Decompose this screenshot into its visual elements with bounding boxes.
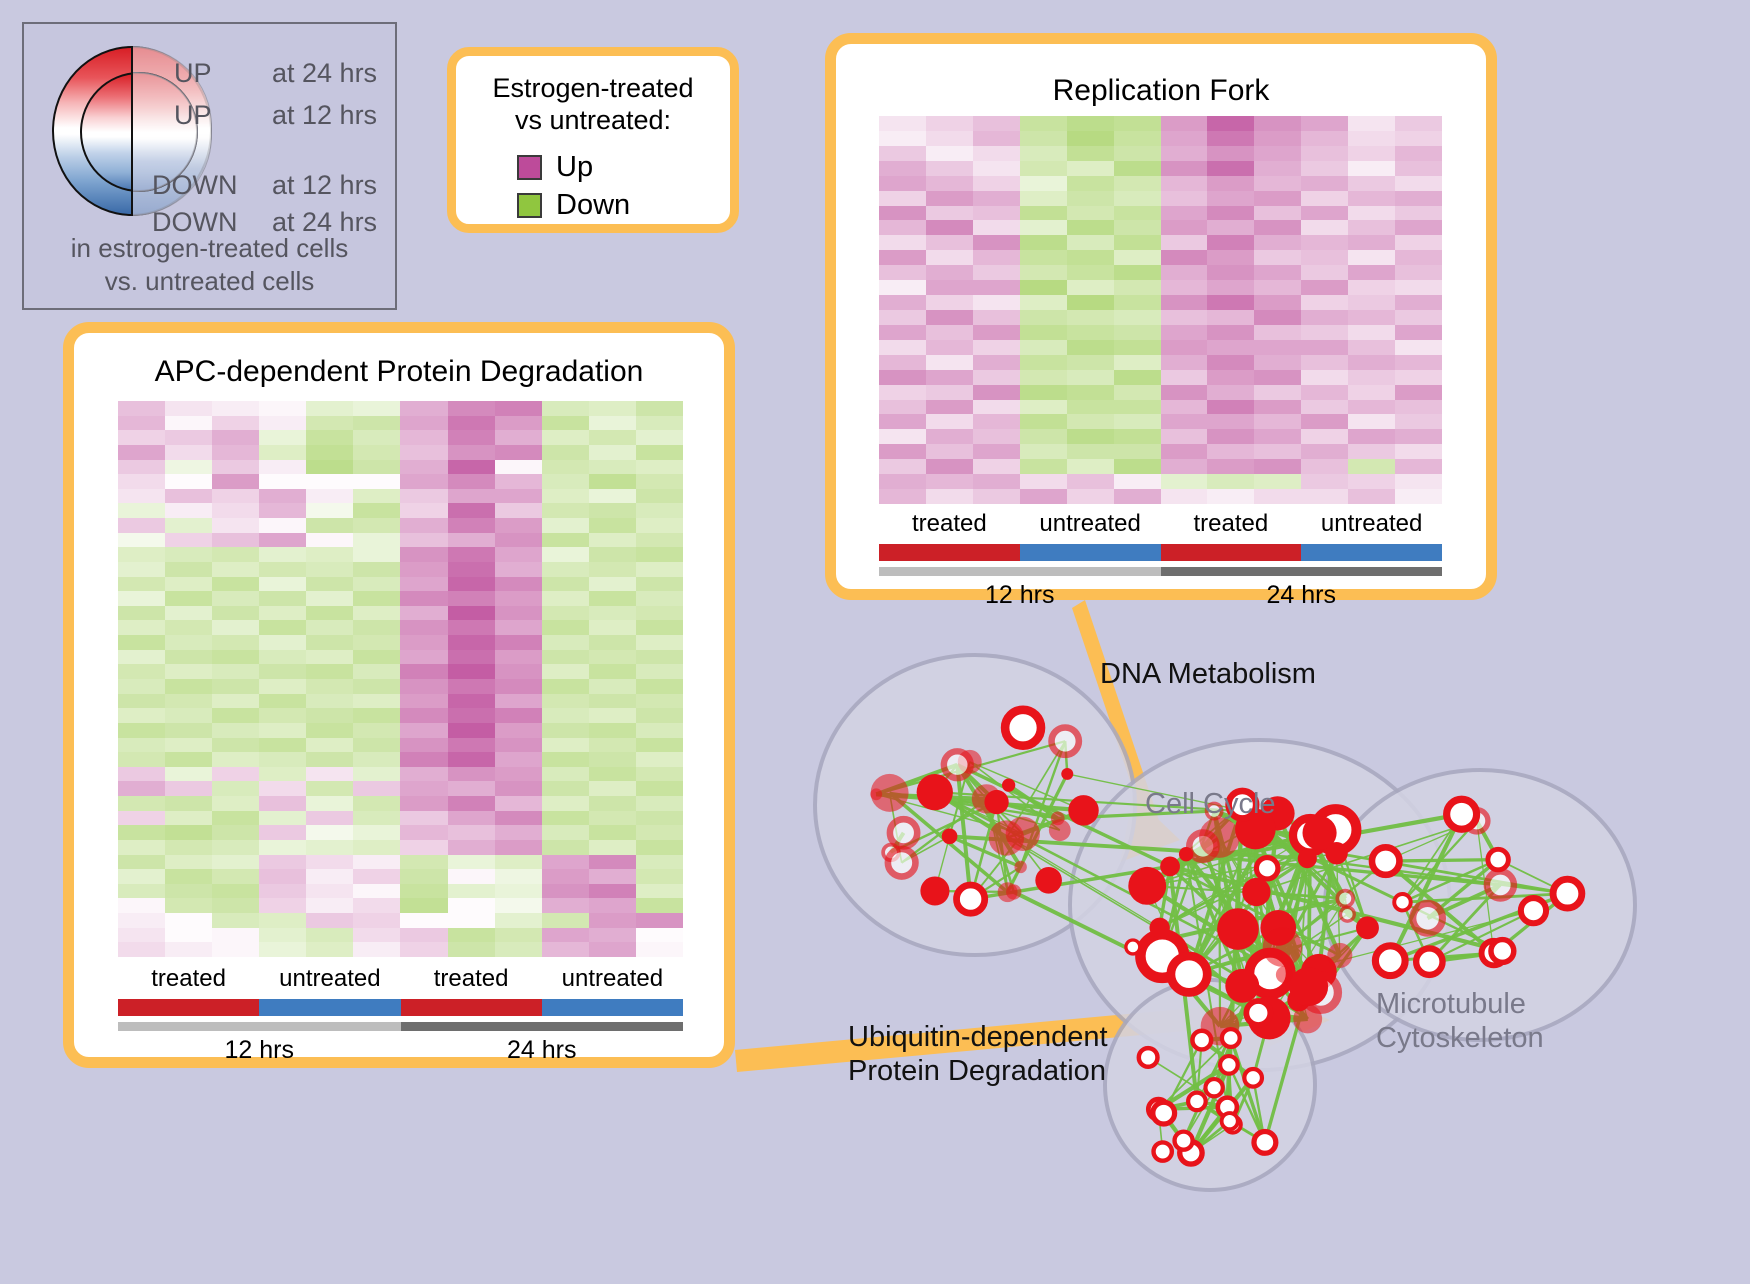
heatmap-cell [1161, 265, 1208, 280]
heatmap-cell [118, 869, 165, 884]
heatmap-cell [400, 620, 447, 635]
network-node-ring [1337, 891, 1353, 907]
heatmap-cell [495, 606, 542, 621]
time-label-1: 24 hrs [1161, 581, 1443, 610]
heatmap-cell [1395, 355, 1442, 370]
heatmap-cell [1301, 131, 1348, 146]
heatmap-cell [353, 533, 400, 548]
group-label-3: untreated [1301, 510, 1442, 538]
heatmap-cell [1254, 355, 1301, 370]
heatmap-cell [973, 206, 1020, 221]
heatmap-cell [542, 591, 589, 606]
heatmap-cell [879, 116, 926, 131]
network-node-ring [1051, 727, 1078, 754]
heatmap-cell [1114, 310, 1161, 325]
network-node-ring [1416, 948, 1442, 974]
heatmap-cell [259, 518, 306, 533]
network-node [989, 820, 1024, 855]
heatmap-cell [1254, 146, 1301, 161]
heatmap-cell [353, 855, 400, 870]
colorwheel-legend-box: UP at 24 hrs UP at 12 hrs DOWN at 12 hrs… [22, 22, 397, 310]
heatmap-cell [1067, 146, 1114, 161]
heatmap-cell [1067, 429, 1114, 444]
heatmap-cell [1161, 295, 1208, 310]
heatmap-cell [259, 723, 306, 738]
heatmap-cell [495, 913, 542, 928]
apc-heatmap [118, 401, 683, 957]
heatmap-cell [448, 840, 495, 855]
network-node [1199, 817, 1240, 858]
heatmap-cell [448, 664, 495, 679]
heatmap-cell [1348, 489, 1395, 504]
heatmap-cell [212, 650, 259, 665]
heatmap-cell [589, 416, 636, 431]
network-node [1002, 778, 1015, 791]
heatmap-cell [1020, 131, 1067, 146]
heatmap-cell [589, 562, 636, 577]
heatmap-cell [926, 176, 973, 191]
treatment-bar-segment-0 [879, 544, 1020, 561]
heatmap-cell [1161, 385, 1208, 400]
heatmap-cell [400, 591, 447, 606]
heatmap-cell [400, 942, 447, 957]
heatmap-cell [400, 416, 447, 431]
cluster-label-ubiquitin-degradation: Ubiquitin-dependent Protein Degradation [848, 1020, 1108, 1088]
heatmap-cell [1348, 250, 1395, 265]
network-node-ring [957, 885, 985, 913]
heatmap-cell [879, 400, 926, 415]
heatmap-cell [259, 767, 306, 782]
heatmap-cell [1020, 355, 1067, 370]
heatmap-cell [353, 767, 400, 782]
heatmap-cell [400, 635, 447, 650]
heatmap-cell [589, 460, 636, 475]
heatmap-cell [636, 430, 683, 445]
legend-swatch-down [517, 193, 542, 218]
heatmap-cell [212, 796, 259, 811]
group-label-1: untreated [1020, 510, 1161, 538]
heatmap-cell [1067, 295, 1114, 310]
network-node-ring [1126, 940, 1140, 954]
heatmap-cell [448, 445, 495, 460]
heatmap-cell [1161, 370, 1208, 385]
heatmap-cell [495, 738, 542, 753]
heatmap-cell [1395, 116, 1442, 131]
heatmap-cell [495, 928, 542, 943]
heatmap-cell [165, 767, 212, 782]
heatmap-cell [1114, 131, 1161, 146]
heatmap-cell [879, 310, 926, 325]
heatmap-cell [973, 429, 1020, 444]
heatmap-cell [495, 562, 542, 577]
heatmap-cell [1161, 176, 1208, 191]
heatmap-cell [636, 533, 683, 548]
heatmap-cell [400, 723, 447, 738]
heatmap-cell [973, 235, 1020, 250]
heatmap-cell [926, 161, 973, 176]
heatmap-cell [1395, 310, 1442, 325]
heatmap-cell [1114, 385, 1161, 400]
heatmap-cell [306, 533, 353, 548]
heatmap-cell [165, 489, 212, 504]
heatmap-cell [589, 840, 636, 855]
heatmap-cell [1161, 280, 1208, 295]
heatmap-cell [259, 869, 306, 884]
heatmap-cell [1020, 220, 1067, 235]
heatmap-cell [973, 414, 1020, 429]
heatmap-cell [973, 459, 1020, 474]
network-node-ring [1375, 946, 1405, 976]
heatmap-cell [495, 664, 542, 679]
network-node [984, 790, 1008, 814]
heatmap-cell [542, 942, 589, 957]
heatmap-cell [259, 840, 306, 855]
heatmap-cell [1067, 459, 1114, 474]
network-graph [790, 615, 1750, 1279]
heatmap-cell [1161, 414, 1208, 429]
heatmap-cell [1254, 220, 1301, 235]
heatmap-cell [400, 533, 447, 548]
heatmap-cell [400, 738, 447, 753]
heatmap-cell [448, 606, 495, 621]
heatmap-cell [353, 664, 400, 679]
heatmap-cell [589, 825, 636, 840]
heatmap-cell [1161, 474, 1208, 489]
heatmap-cell [589, 430, 636, 445]
heatmap-cell [636, 460, 683, 475]
heatmap-cell [353, 620, 400, 635]
heatmap-cell [542, 796, 589, 811]
heatmap-cell [973, 355, 1020, 370]
heatmap-cell [306, 708, 353, 723]
heatmap-cell [926, 325, 973, 340]
replication-fork-time-bar [879, 567, 1442, 576]
heatmap-cell [400, 840, 447, 855]
heatmap-cell [1067, 414, 1114, 429]
heatmap-cell [1254, 489, 1301, 504]
heatmap-cell [1207, 116, 1254, 131]
heatmap-cell [1020, 370, 1067, 385]
heatmap-cell [1067, 161, 1114, 176]
heatmap-cell [1207, 459, 1254, 474]
heatmap-cell [353, 547, 400, 562]
heatmap-cell [259, 650, 306, 665]
heatmap-cell [448, 679, 495, 694]
heatmap-cell [495, 533, 542, 548]
network-node [1068, 795, 1098, 825]
heatmap-cell [259, 796, 306, 811]
heatmap-cell [1395, 325, 1442, 340]
wheel-time-up-24: at 24 hrs [272, 60, 377, 87]
heatmap-cell [1020, 295, 1067, 310]
heatmap-cell [1161, 429, 1208, 444]
time-label-1: 24 hrs [401, 1036, 684, 1065]
heatmap-cell [973, 131, 1020, 146]
heatmap-cell [926, 429, 973, 444]
heatmap-cell [589, 898, 636, 913]
heatmap-cell [400, 606, 447, 621]
heatmap-cell [212, 694, 259, 709]
replication-fork-title: Replication Fork [836, 74, 1486, 108]
heatmap-cell [259, 884, 306, 899]
cluster-label-mt-line1: Microtubule [1376, 987, 1544, 1021]
heatmap-cell [1161, 310, 1208, 325]
heatmap-cell [212, 416, 259, 431]
heatmap-cell [542, 518, 589, 533]
heatmap-cell [1207, 146, 1254, 161]
treatment-bar-segment-1 [259, 999, 400, 1016]
heatmap-cell [879, 235, 926, 250]
heatmap-cell [1301, 474, 1348, 489]
heatmap-cell [1020, 385, 1067, 400]
heatmap-cell [212, 664, 259, 679]
heatmap-cell [306, 635, 353, 650]
heatmap-cell [1395, 235, 1442, 250]
treatment-bar-segment-2 [1161, 544, 1302, 561]
heatmap-cell [1348, 295, 1395, 310]
heatmap-cell [400, 562, 447, 577]
heatmap-cell [542, 474, 589, 489]
heatmap-cell [879, 429, 926, 444]
heatmap-cell [306, 752, 353, 767]
heatmap-cell [926, 116, 973, 131]
heatmap-cell [118, 635, 165, 650]
heatmap-cell [1254, 474, 1301, 489]
heatmap-cell [926, 295, 973, 310]
heatmap-cell [1395, 250, 1442, 265]
heatmap-cell [1114, 355, 1161, 370]
network-node-ring [1205, 1079, 1222, 1096]
heatmap-cell [1348, 191, 1395, 206]
heatmap-cell [165, 694, 212, 709]
heatmap-cell [1207, 489, 1254, 504]
heatmap-cell [1207, 370, 1254, 385]
heatmap-cell [636, 694, 683, 709]
heatmap-cell [879, 444, 926, 459]
heatmap-cell [212, 679, 259, 694]
heatmap-cell [1395, 370, 1442, 385]
heatmap-cell [636, 635, 683, 650]
heatmap-cell [118, 591, 165, 606]
heatmap-cell [1207, 131, 1254, 146]
heatmap-cell [1254, 295, 1301, 310]
heatmap-cell [306, 869, 353, 884]
heatmap-cell [165, 474, 212, 489]
heatmap-cell [1207, 385, 1254, 400]
heatmap-cell [165, 664, 212, 679]
heatmap-cell [879, 176, 926, 191]
heatmap-cell [1207, 235, 1254, 250]
heatmap-cell [400, 767, 447, 782]
heatmap-cell [212, 723, 259, 738]
group-label-0: treated [879, 510, 1020, 538]
heatmap-cell [259, 430, 306, 445]
heatmap-cell [589, 679, 636, 694]
heatmap-cell [495, 825, 542, 840]
heatmap-cell [636, 577, 683, 592]
heatmap-cell [1114, 340, 1161, 355]
heatmap-cell [306, 855, 353, 870]
heatmap-cell [636, 591, 683, 606]
heatmap-cell [212, 474, 259, 489]
heatmap-cell [400, 679, 447, 694]
heatmap-cell [165, 840, 212, 855]
heatmap-cell [495, 620, 542, 635]
heatmap-cell [1161, 191, 1208, 206]
heatmap-cell [1020, 235, 1067, 250]
heatmap-cell [212, 635, 259, 650]
heatmap-cell [589, 445, 636, 460]
heatmap-cell [212, 840, 259, 855]
group-label-3: untreated [542, 965, 683, 993]
heatmap-cell [1114, 161, 1161, 176]
heatmap-cell [1020, 206, 1067, 221]
network-node-ring [1005, 710, 1041, 746]
heatmap-cell [165, 635, 212, 650]
heatmap-cell [1301, 355, 1348, 370]
apc-treatment-bar [118, 999, 683, 1016]
heatmap-cell [973, 310, 1020, 325]
heatmap-cell [589, 577, 636, 592]
heatmap-cell [589, 796, 636, 811]
heatmap-cell [973, 400, 1020, 415]
heatmap-cell [1020, 489, 1067, 504]
heatmap-cell [1114, 429, 1161, 444]
network-node-ring [1244, 1069, 1262, 1087]
network-node-ring [1372, 847, 1400, 875]
heatmap-cell [1161, 400, 1208, 415]
heatmap-cell [400, 708, 447, 723]
heatmap-cell [879, 206, 926, 221]
heatmap-cell [542, 752, 589, 767]
heatmap-cell [1348, 220, 1395, 235]
network-node-ring [1491, 940, 1514, 963]
heatmap-cell [1114, 414, 1161, 429]
heatmap-cell [448, 781, 495, 796]
heatmap-cell [259, 474, 306, 489]
heatmap-cell [542, 708, 589, 723]
network-node [1035, 867, 1062, 894]
heatmap-cell [542, 723, 589, 738]
heatmap-cell [306, 620, 353, 635]
heatmap-cell [306, 401, 353, 416]
heatmap-cell [1207, 474, 1254, 489]
heatmap-cell [636, 855, 683, 870]
heatmap-cell [306, 884, 353, 899]
heatmap-cell [259, 591, 306, 606]
heatmap-cell [926, 250, 973, 265]
heatmap-cell [1114, 459, 1161, 474]
heatmap-cell [1020, 280, 1067, 295]
heatmap-cell [165, 416, 212, 431]
heatmap-cell [1161, 116, 1208, 131]
heatmap-cell [495, 635, 542, 650]
heatmap-cell [118, 796, 165, 811]
heatmap-cell [495, 752, 542, 767]
heatmap-cell [1114, 220, 1161, 235]
heatmap-cell [1301, 176, 1348, 191]
heatmap-cell [448, 635, 495, 650]
heatmap-cell [1395, 206, 1442, 221]
wheel-label-up-24: UP [174, 60, 212, 87]
heatmap-cell [879, 295, 926, 310]
heatmap-cell [1114, 280, 1161, 295]
heatmap-cell [212, 811, 259, 826]
heatmap-cell [165, 401, 212, 416]
heatmap-cell [259, 694, 306, 709]
heatmap-cell [1395, 489, 1442, 504]
legend-title-line1: Estrogen-treated [456, 72, 730, 104]
network-node [871, 774, 909, 812]
heatmap-cell [636, 898, 683, 913]
heatmap-cell [118, 518, 165, 533]
heatmap-cell [589, 533, 636, 548]
heatmap-cell [400, 855, 447, 870]
network-node-ring [1394, 894, 1410, 910]
heatmap-cell [306, 430, 353, 445]
network-node-ring [1521, 898, 1546, 923]
network-node-ring [1222, 1029, 1240, 1047]
heatmap-cell [973, 191, 1020, 206]
heatmap-cell [1020, 459, 1067, 474]
heatmap-cell [400, 898, 447, 913]
heatmap-cell [259, 664, 306, 679]
network-node-ring [1340, 907, 1354, 921]
heatmap-cell [1254, 310, 1301, 325]
heatmap-cell [400, 913, 447, 928]
cluster-label-ub-line2: Protein Degradation [848, 1054, 1108, 1088]
heatmap-cell [1207, 280, 1254, 295]
cluster-label-dna-metabolism: DNA Metabolism [1100, 657, 1316, 691]
network-node [917, 774, 953, 810]
heatmap-cell [1301, 414, 1348, 429]
heatmap-cell [1161, 206, 1208, 221]
heatmap-cell [1254, 385, 1301, 400]
network-node-ring [1220, 1056, 1238, 1074]
heatmap-cell [1254, 265, 1301, 280]
heatmap-cell [400, 664, 447, 679]
heatmap-cell [1114, 444, 1161, 459]
heatmap-cell [1254, 370, 1301, 385]
heatmap-cell [589, 884, 636, 899]
heatmap-cell [495, 503, 542, 518]
heatmap-cell [118, 620, 165, 635]
heatmap-cell [1067, 250, 1114, 265]
heatmap-cell [400, 928, 447, 943]
heatmap-cell [118, 533, 165, 548]
heatmap-cell [1395, 191, 1442, 206]
heatmap-cell [353, 942, 400, 957]
heatmap-cell [353, 752, 400, 767]
heatmap-cell [926, 191, 973, 206]
heatmap-cell [926, 414, 973, 429]
heatmap-cell [1254, 191, 1301, 206]
heatmap-cell [353, 474, 400, 489]
legend-item-down: Down [517, 189, 630, 222]
heatmap-cell [212, 445, 259, 460]
heatmap-cell [495, 694, 542, 709]
heatmap-cell [1114, 206, 1161, 221]
heatmap-cell [926, 280, 973, 295]
heatmap-cell [926, 459, 973, 474]
heatmap-cell [879, 385, 926, 400]
time-bar-segment-0 [118, 1022, 401, 1031]
heatmap-cell [495, 840, 542, 855]
heatmap-cell [589, 401, 636, 416]
heatmap-cell [636, 474, 683, 489]
heatmap-cell [165, 708, 212, 723]
group-label-2: treated [1161, 510, 1302, 538]
